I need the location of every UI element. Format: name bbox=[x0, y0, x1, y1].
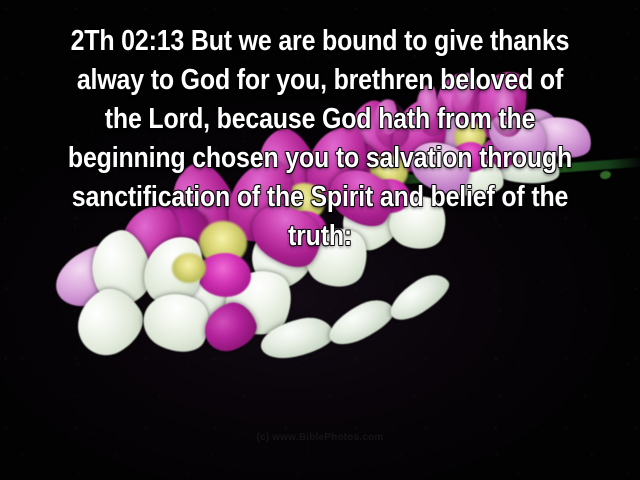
copyright-watermark: (c) www.BiblePhotos.com bbox=[0, 432, 640, 443]
flower-throat bbox=[172, 253, 206, 283]
flower-lip bbox=[197, 253, 251, 297]
verse-image-canvas: 2Th 02:13 But we are bound to give thank… bbox=[0, 0, 640, 480]
orchid-photograph bbox=[0, 0, 640, 480]
